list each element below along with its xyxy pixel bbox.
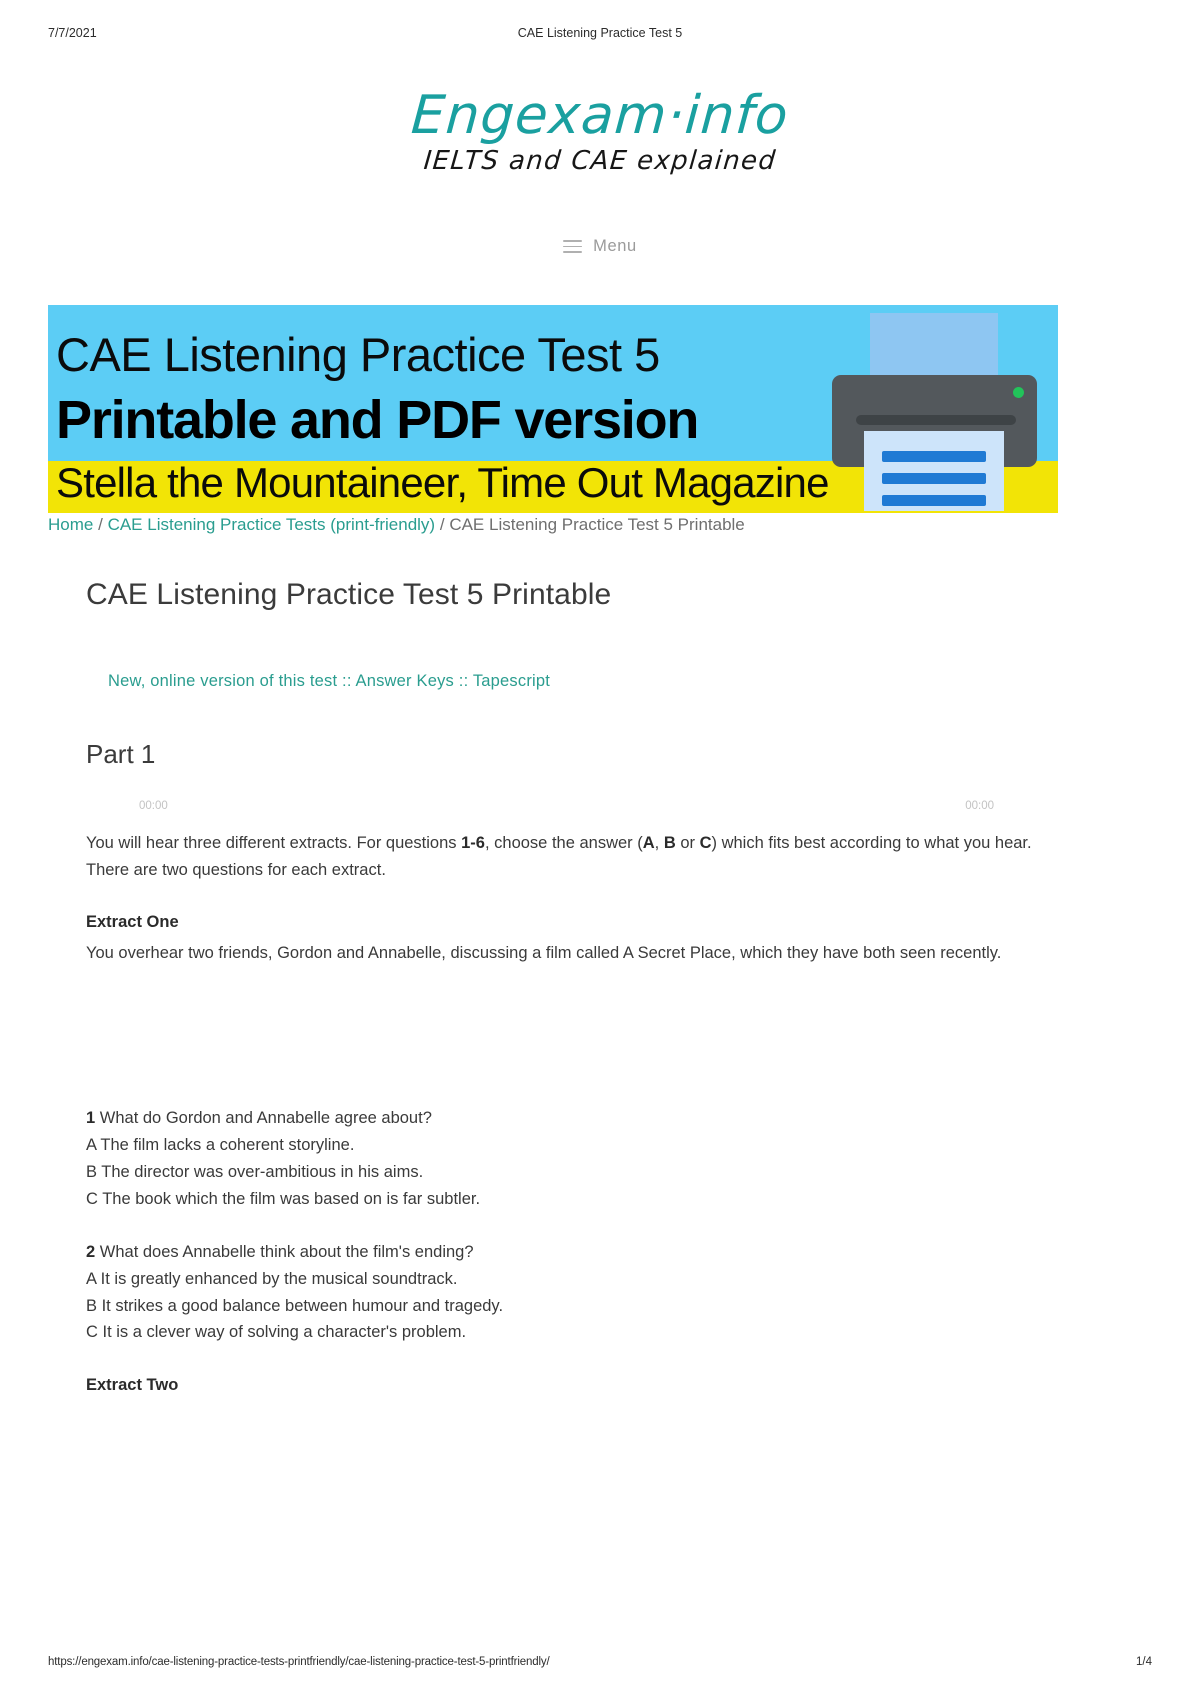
instructions-question-range: 1-6	[461, 834, 485, 852]
extract-two-heading: Extract Two	[86, 1376, 1032, 1395]
related-links-line: New, online version of this test :: Answ…	[108, 672, 1032, 691]
menu-label: Menu	[593, 237, 637, 256]
print-footer-url: https://engexam.info/cae-listening-pract…	[48, 1656, 550, 1668]
question-2-text: What does Annabelle think about the film…	[100, 1243, 474, 1261]
article-body: CAE Listening Practice Test 5 Printable …	[86, 578, 1032, 1395]
audio-player[interactable]: 00:00 00:00	[86, 800, 1032, 822]
question-1-option-c: C The book which the film was based on i…	[86, 1186, 1032, 1213]
link-online-version[interactable]: New, online version of this test	[108, 672, 337, 690]
instructions-seg-4: or	[676, 834, 700, 852]
question-1-option-b: B The director was over-ambitious in his…	[86, 1159, 1032, 1186]
question-2-option-c: C It is a clever way of solving a charac…	[86, 1319, 1032, 1346]
hamburger-icon	[563, 236, 582, 257]
logo-tagline: IELTS and CAE explained	[0, 146, 1200, 176]
audio-current-time: 00:00	[139, 800, 168, 812]
question-1-stem: 1 What do Gordon and Annabelle agree abo…	[86, 1105, 1032, 1132]
breadcrumb-item-current: CAE Listening Practice Test 5 Printable	[449, 515, 744, 534]
instructions-seg-2: , choose the answer (	[485, 834, 643, 852]
featured-banner-image: CAE Listening Practice Test 5 Printable …	[48, 305, 1058, 513]
banner-line-2: Printable and PDF version	[56, 389, 698, 451]
breadcrumb: Home / CAE Listening Practice Tests (pri…	[48, 515, 1108, 535]
banner-line-1: CAE Listening Practice Test 5	[56, 327, 660, 382]
extract-one-audio-placeholder	[86, 967, 1032, 1079]
print-header-title: CAE Listening Practice Test 5	[0, 26, 1200, 40]
site-logo[interactable]: Engexam·info IELTS and CAE explained	[0, 88, 1200, 176]
print-header: 7/7/2021 CAE Listening Practice Test 5	[0, 26, 1200, 42]
part-heading: Part 1	[86, 739, 1032, 770]
question-2-option-b: B It strikes a good balance between humo…	[86, 1293, 1032, 1320]
breadcrumb-separator: /	[98, 515, 103, 534]
extract-one-heading: Extract One	[86, 913, 1032, 932]
breadcrumb-item-home[interactable]: Home	[48, 515, 93, 534]
printer-icon	[830, 305, 1040, 513]
question-2-stem: 2 What does Annabelle think about the fi…	[86, 1239, 1032, 1266]
question-2: 2 What does Annabelle think about the fi…	[86, 1239, 1032, 1347]
instructions-option-a: A	[643, 834, 655, 852]
instructions-option-c: C	[700, 834, 712, 852]
link-tapescript[interactable]: Tapescript	[473, 672, 550, 690]
question-1-number: 1	[86, 1109, 95, 1127]
print-footer: https://engexam.info/cae-listening-pract…	[0, 1656, 1200, 1672]
breadcrumb-separator: /	[440, 515, 445, 534]
menu-toggle[interactable]: Menu	[0, 236, 1200, 257]
link-answer-keys[interactable]: Answer Keys	[356, 672, 455, 690]
instructions-option-b: B	[664, 834, 676, 852]
question-1: 1 What do Gordon and Annabelle agree abo…	[86, 1105, 1032, 1213]
extract-one-intro: You overhear two friends, Gordon and Ann…	[86, 940, 1032, 967]
question-2-option-a: A It is greatly enhanced by the musical …	[86, 1266, 1032, 1293]
question-2-number: 2	[86, 1243, 95, 1261]
links-separator-1: ::	[337, 672, 355, 690]
instructions-seg-3: ,	[655, 834, 664, 852]
part-instructions: You will hear three different extracts. …	[86, 830, 1032, 883]
breadcrumb-item-category[interactable]: CAE Listening Practice Tests (print-frie…	[108, 515, 436, 534]
logo-wordmark: Engexam·info	[0, 88, 1200, 144]
question-1-option-a: A The film lacks a coherent storyline.	[86, 1132, 1032, 1159]
audio-duration: 00:00	[965, 800, 994, 812]
banner-line-3: Stella the Mountaineer, Time Out Magazin…	[56, 459, 829, 507]
links-separator-2: ::	[454, 672, 473, 690]
page-title: CAE Listening Practice Test 5 Printable	[86, 578, 1032, 612]
print-footer-page-number: 1/4	[1136, 1656, 1152, 1668]
question-1-text: What do Gordon and Annabelle agree about…	[100, 1109, 432, 1127]
instructions-seg-1: You will hear three different extracts. …	[86, 834, 461, 852]
